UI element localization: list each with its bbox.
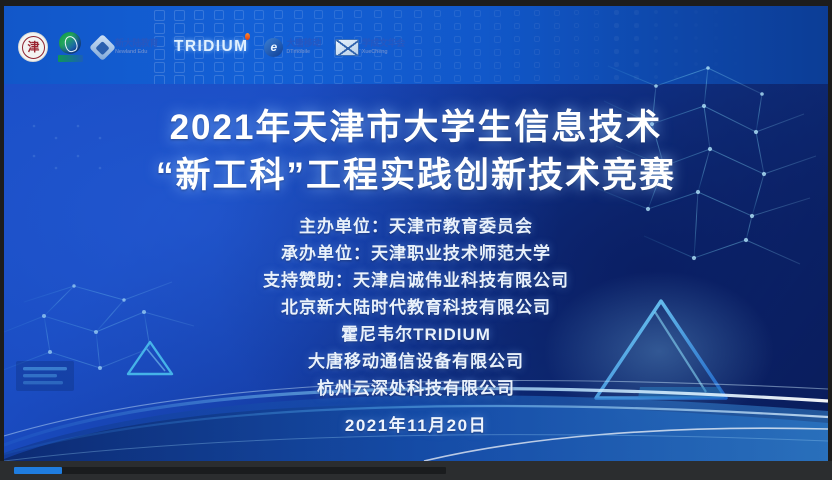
presentation-slide: 津 新大陆教育 Newland Edu	[4, 6, 828, 461]
newland-logo-line2: Newland Edu	[115, 49, 158, 55]
window-top-edge	[0, 0, 832, 6]
newland-diamond-logo: 新大陆教育 Newland Edu	[93, 32, 158, 62]
slide-date: 2021年11月20日	[4, 411, 828, 436]
credit-sponsor-5: 杭州云深处科技有限公司	[4, 375, 828, 402]
tridium-label: TRIDIUM	[174, 38, 248, 55]
credit-host: 承办单位：天津职业技术师范大学	[4, 240, 828, 267]
title-line-1: 2021年天津市大学生信息技术	[4, 104, 828, 152]
credit-sponsor-1: 支持赞助：天津启诚伟业科技有限公司	[4, 267, 828, 294]
seal-icon: 津	[18, 32, 48, 62]
playback-progress-track[interactable]	[14, 467, 446, 474]
credit-sponsor-3: 霍尼韦尔TRIDIUM	[4, 321, 828, 348]
player-bottom-bar[interactable]	[0, 461, 832, 480]
credit-sponsor-2: 北京新大陆时代教育科技有限公司	[4, 294, 828, 321]
window-right-edge	[828, 0, 832, 480]
envelope-icon	[335, 39, 359, 56]
datang-logo-line1: 大唐移动	[286, 39, 320, 48]
credit-organizer: 主办单位：天津市教育委员会	[4, 213, 828, 240]
xuecheng-logo-line2: XueCheng	[362, 49, 405, 55]
seal-mark-label: 津	[27, 41, 38, 53]
slide-title: 2021年天津市大学生信息技术 “新工科”工程实践创新技术竞赛	[4, 104, 828, 200]
datang-logo-line2: DTmobile	[286, 49, 320, 55]
xuecheng-logo-line1: 学成文华会	[362, 39, 405, 48]
tjsec-seal-logo: 津	[18, 32, 48, 62]
credits-block: 主办单位：天津市教育委员会 承办单位：天津职业技术师范大学 支持赞助：天津启诚伟…	[4, 213, 828, 402]
tute-globe-logo	[58, 32, 83, 62]
xuecheng-envelope-logo: 学成文华会 XueCheng	[335, 32, 405, 62]
diamond-icon	[89, 34, 116, 61]
globe-icon	[58, 32, 83, 62]
datang-mobile-logo: 大唐移动 DTmobile	[264, 32, 320, 62]
screen: 津 新大陆教育 Newland Edu	[0, 0, 832, 480]
credit-sponsor-4: 大唐移动通信设备有限公司	[4, 348, 828, 375]
window-left-edge	[0, 0, 4, 480]
title-line-2: “新工科”工程实践创新技术竞赛	[4, 152, 828, 200]
flame-icon	[245, 33, 250, 40]
tridium-logo: TRIDIUM	[174, 32, 248, 62]
newland-logo-line1: 新大陆教育	[115, 39, 158, 48]
logo-row: 津 新大陆教育 Newland Edu	[18, 32, 405, 62]
tridium-wordmark: TRIDIUM	[174, 38, 248, 56]
sponsor-logo-bar: 津 新大陆教育 Newland Edu	[4, 6, 828, 84]
playback-progress-fill	[14, 467, 62, 474]
datang-circle-icon	[264, 38, 283, 57]
